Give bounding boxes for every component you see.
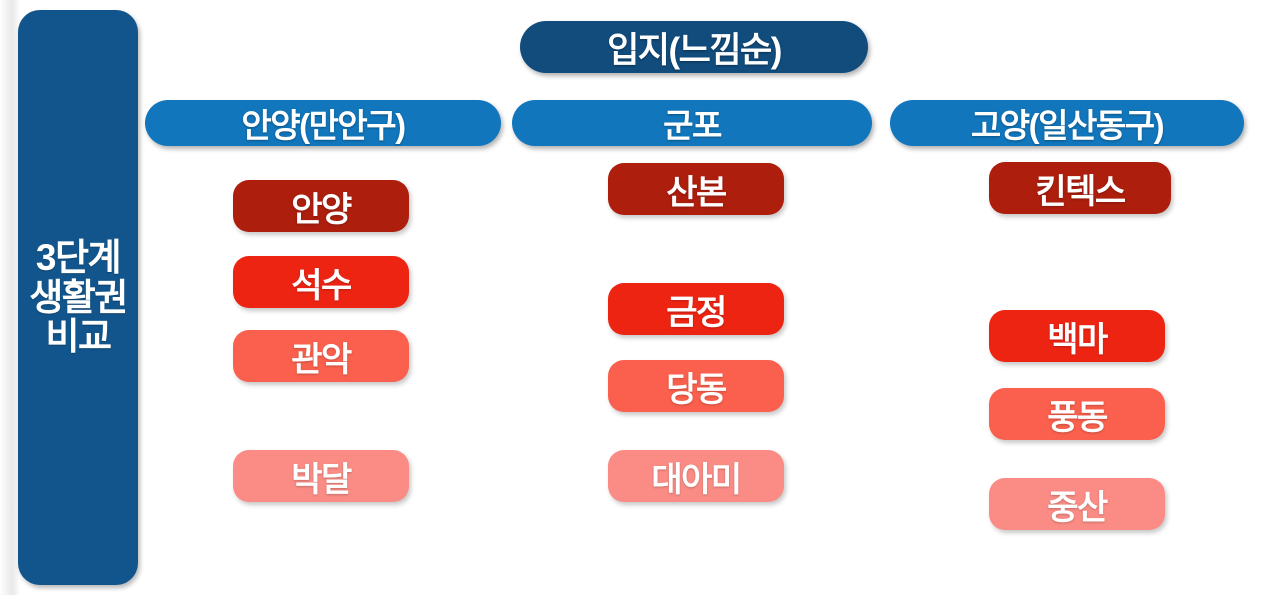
area-pill-label: 석수 [291, 258, 351, 307]
column-header-label: 안양(만안구) [241, 99, 404, 147]
column-header-goyang[interactable]: 고양(일산동구) [890, 100, 1244, 146]
column-header-label: 군포 [663, 99, 721, 147]
title-banner: 입지(느낌순) [520, 21, 868, 73]
area-pill[interactable]: 중산 [989, 478, 1165, 530]
side-panel-label: 3단계 생활권 비교 [29, 238, 127, 358]
area-pill[interactable]: 백마 [989, 310, 1165, 362]
column-header-anyang[interactable]: 안양(만안구) [145, 100, 501, 146]
area-pill[interactable]: 대아미 [608, 450, 784, 502]
column-header-gunpo[interactable]: 군포 [512, 100, 872, 146]
area-pill-label: 백마 [1047, 312, 1107, 361]
area-pill[interactable]: 킨텍스 [989, 162, 1171, 214]
side-panel: 3단계 생활권 비교 [18, 10, 138, 585]
area-pill[interactable]: 풍동 [989, 388, 1165, 440]
area-pill[interactable]: 관악 [233, 330, 409, 382]
area-pill-label: 풍동 [1047, 390, 1107, 439]
area-pill[interactable]: 박달 [233, 450, 409, 502]
area-pill[interactable]: 산본 [608, 163, 784, 215]
area-pill-label: 산본 [666, 165, 726, 214]
area-pill-label: 안양 [291, 182, 351, 231]
area-pill-label: 중산 [1047, 480, 1107, 529]
column-header-label: 고양(일산동구) [971, 99, 1163, 147]
area-pill-label: 당동 [666, 362, 726, 411]
area-pill[interactable]: 당동 [608, 360, 784, 412]
area-pill-label: 박달 [291, 452, 351, 501]
area-pill-label: 금정 [666, 285, 726, 334]
page-title: 입지(느낌순) [607, 22, 781, 73]
area-pill-label: 킨텍스 [1035, 164, 1124, 213]
left-edge-strip [0, 0, 20, 595]
area-pill-label: 관악 [291, 332, 351, 381]
area-pill[interactable]: 석수 [233, 256, 409, 308]
area-pill[interactable]: 금정 [608, 283, 784, 335]
area-pill-label: 대아미 [651, 452, 740, 501]
diagram-canvas: 3단계 생활권 비교 입지(느낌순) 안양(만안구) 군포 고양(일산동구) 안… [0, 0, 1268, 595]
area-pill[interactable]: 안양 [233, 180, 409, 232]
